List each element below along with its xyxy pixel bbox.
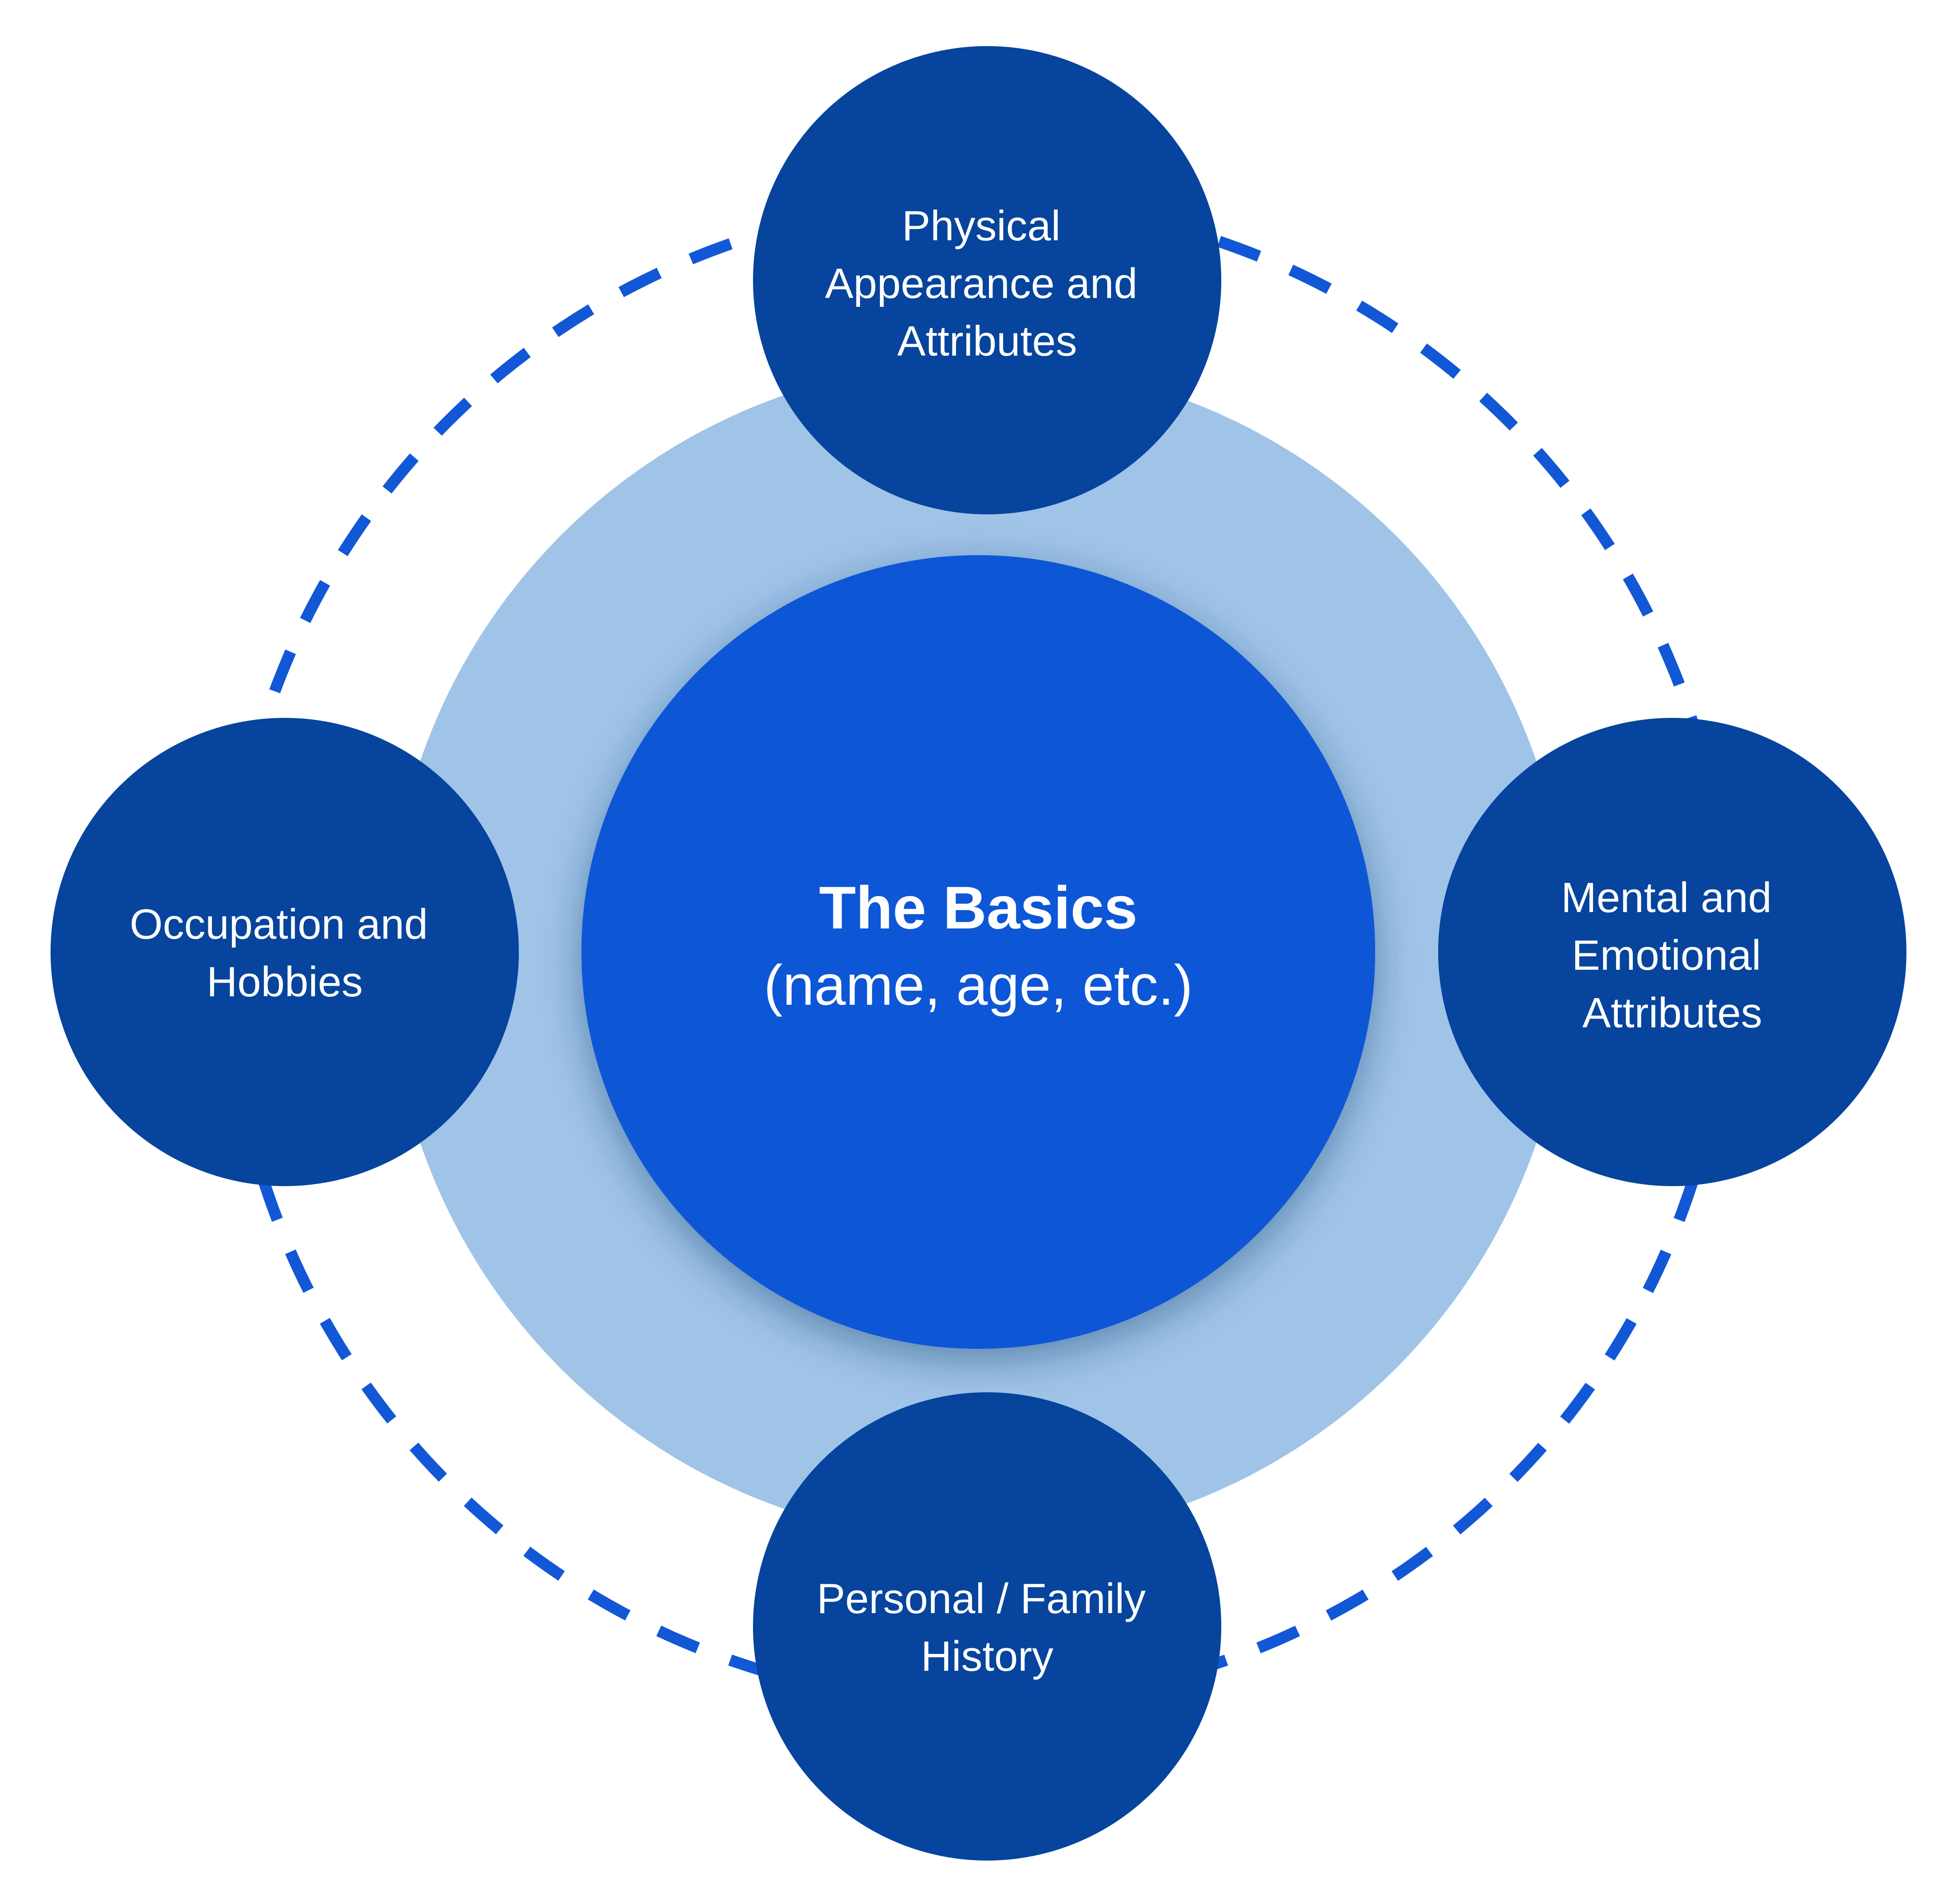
- satellite-right-label: Mental and Emotional Attributes: [1561, 874, 1784, 1037]
- satellite-left-line-2: Hobbies: [207, 958, 363, 1006]
- core-title: The Basics: [819, 874, 1137, 941]
- satellite-left-line-1: Occupation and: [129, 901, 427, 948]
- diagram-canvas: Physical Appearance and Attributes Occup…: [0, 0, 1957, 1904]
- satellite-occupation-and-hobbies[interactable]: Occupation and Hobbies: [51, 718, 519, 1186]
- core-subtitle: (name, age, etc.): [764, 954, 1193, 1017]
- satellite-top-line-3: Attributes: [897, 317, 1077, 365]
- satellite-bottom-circle: [753, 1392, 1221, 1861]
- satellite-left-circle: [51, 718, 519, 1186]
- satellite-personal-family-history[interactable]: Personal / Family History: [753, 1392, 1221, 1861]
- core-circle: [581, 555, 1375, 1349]
- satellite-top-line-2: Appearance and: [825, 260, 1137, 307]
- satellite-right-line-3: Attributes: [1582, 989, 1762, 1037]
- satellite-right-line-1: Mental and: [1561, 874, 1772, 921]
- diagram-root: Physical Appearance and Attributes Occup…: [0, 0, 1957, 1904]
- satellite-mental-and-emotional-attributes[interactable]: Mental and Emotional Attributes: [1438, 718, 1906, 1186]
- satellite-top-line-1: Physical: [902, 202, 1060, 250]
- core-the-basics[interactable]: The Basics (name, age, etc.): [581, 555, 1375, 1349]
- satellite-right-line-2: Emotional: [1572, 932, 1761, 979]
- satellite-physical-appearance-and-attributes[interactable]: Physical Appearance and Attributes: [753, 46, 1221, 514]
- satellite-bottom-line-1: Personal / Family: [817, 1575, 1146, 1622]
- satellite-bottom-line-2: History: [921, 1633, 1054, 1680]
